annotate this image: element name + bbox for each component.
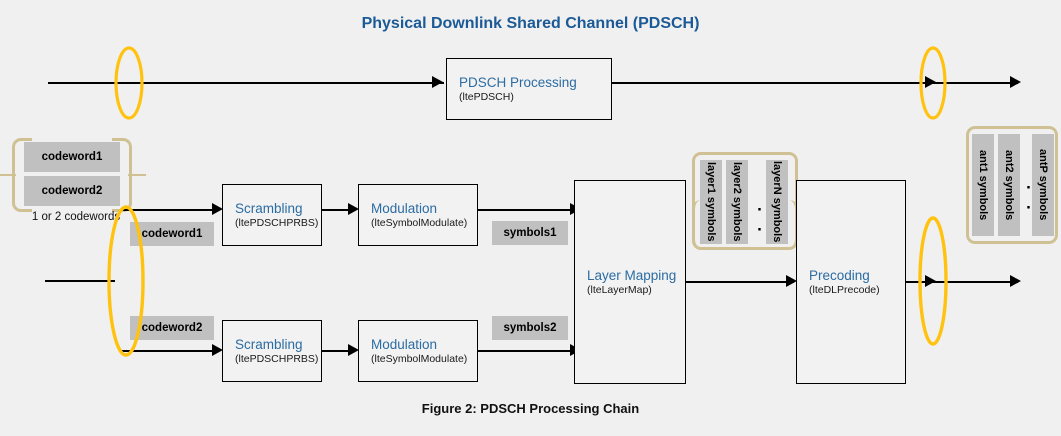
middle-line-left xyxy=(45,280,115,282)
top-arrow-into-pdsch xyxy=(432,76,443,88)
tag-layer2-symbols: layer2 symbols xyxy=(726,160,748,244)
figure-caption: Figure 2: PDSCH Processing Chain xyxy=(0,401,1061,416)
top-arrow-mid xyxy=(925,76,936,88)
branch-bottom-line-out xyxy=(478,350,574,352)
top-arrow-out xyxy=(1010,76,1021,88)
codeword-group-caption: 1 or 2 codewords xyxy=(16,211,136,223)
tag-ant2-symbols: ant2 symbols xyxy=(998,134,1020,236)
layermap-to-precoding-line xyxy=(686,281,794,283)
block-pdsch-processing-function: (ltePDSCH) xyxy=(459,91,611,103)
block-precoding[interactable]: Precoding (lteDLPrecode) xyxy=(796,180,906,384)
tag-codeword2-group: codeword2 xyxy=(24,176,120,206)
block-scrambling-bottom[interactable]: Scrambling (ltePDSCHPRBS) xyxy=(222,320,322,382)
block-modulation-bottom[interactable]: Modulation (lteSymbolModulate) xyxy=(358,320,478,382)
block-modulation-bottom-title: Modulation xyxy=(371,337,477,353)
block-pdsch-processing-title: PDSCH Processing xyxy=(459,75,611,91)
tag-antP-symbols: antP symbols xyxy=(1032,134,1054,236)
block-modulation-top[interactable]: Modulation (lteSymbolModulate) xyxy=(358,184,478,246)
block-layer-mapping-function: (lteLayerMap) xyxy=(587,284,685,296)
branch-bottom-line-in xyxy=(120,350,216,352)
precoding-output-line xyxy=(906,281,1018,283)
codeword-bracket-stem-right xyxy=(128,174,146,176)
branch-top-line-out xyxy=(478,209,574,211)
precoding-output-arrow-mid xyxy=(925,275,936,287)
block-layer-mapping-title: Layer Mapping xyxy=(587,268,685,284)
block-precoding-title: Precoding xyxy=(809,268,905,284)
block-scrambling-bottom-function: (ltePDSCHPRBS) xyxy=(235,353,321,365)
branch-top-line-in xyxy=(120,209,216,211)
top-line-right xyxy=(612,82,1018,84)
block-precoding-function: (lteDLPrecode) xyxy=(809,284,905,296)
block-layer-mapping[interactable]: Layer Mapping (lteLayerMap) xyxy=(574,180,686,384)
tag-ant1-symbols: ant1 symbols xyxy=(972,134,994,236)
block-modulation-bottom-function: (lteSymbolModulate) xyxy=(371,353,477,365)
pdsch-diagram: Physical Downlink Shared Channel (PDSCH)… xyxy=(0,0,1061,436)
block-modulation-top-title: Modulation xyxy=(371,201,477,217)
block-scrambling-bottom-title: Scrambling xyxy=(235,337,321,353)
figure-title: Physical Downlink Shared Channel (PDSCH) xyxy=(0,15,1061,33)
tag-codeword1: codeword1 xyxy=(130,222,214,246)
block-scrambling-top-function: (ltePDSCHPRBS) xyxy=(235,217,321,229)
tag-layer1-symbols: layer1 symbols xyxy=(700,160,722,244)
block-scrambling-top-title: Scrambling xyxy=(235,201,321,217)
branch-top-line-mid xyxy=(322,209,350,211)
precoding-output-arrow-end xyxy=(1010,275,1021,287)
branch-bottom-line-mid xyxy=(322,350,350,352)
top-line-left xyxy=(48,82,444,84)
tag-codeword2: codeword2 xyxy=(130,316,214,340)
block-modulation-top-function: (lteSymbolModulate) xyxy=(371,217,477,229)
tag-codeword1-group: codeword1 xyxy=(24,142,120,172)
block-scrambling-top[interactable]: Scrambling (ltePDSCHPRBS) xyxy=(222,184,322,246)
tag-layerN-symbols: layerN symbols xyxy=(766,160,788,244)
block-pdsch-processing[interactable]: PDSCH Processing (ltePDSCH) xyxy=(446,58,612,120)
tag-symbols2: symbols2 xyxy=(492,316,568,340)
tag-symbols1: symbols1 xyxy=(492,221,568,245)
codeword-bracket-stem-left xyxy=(0,174,16,176)
